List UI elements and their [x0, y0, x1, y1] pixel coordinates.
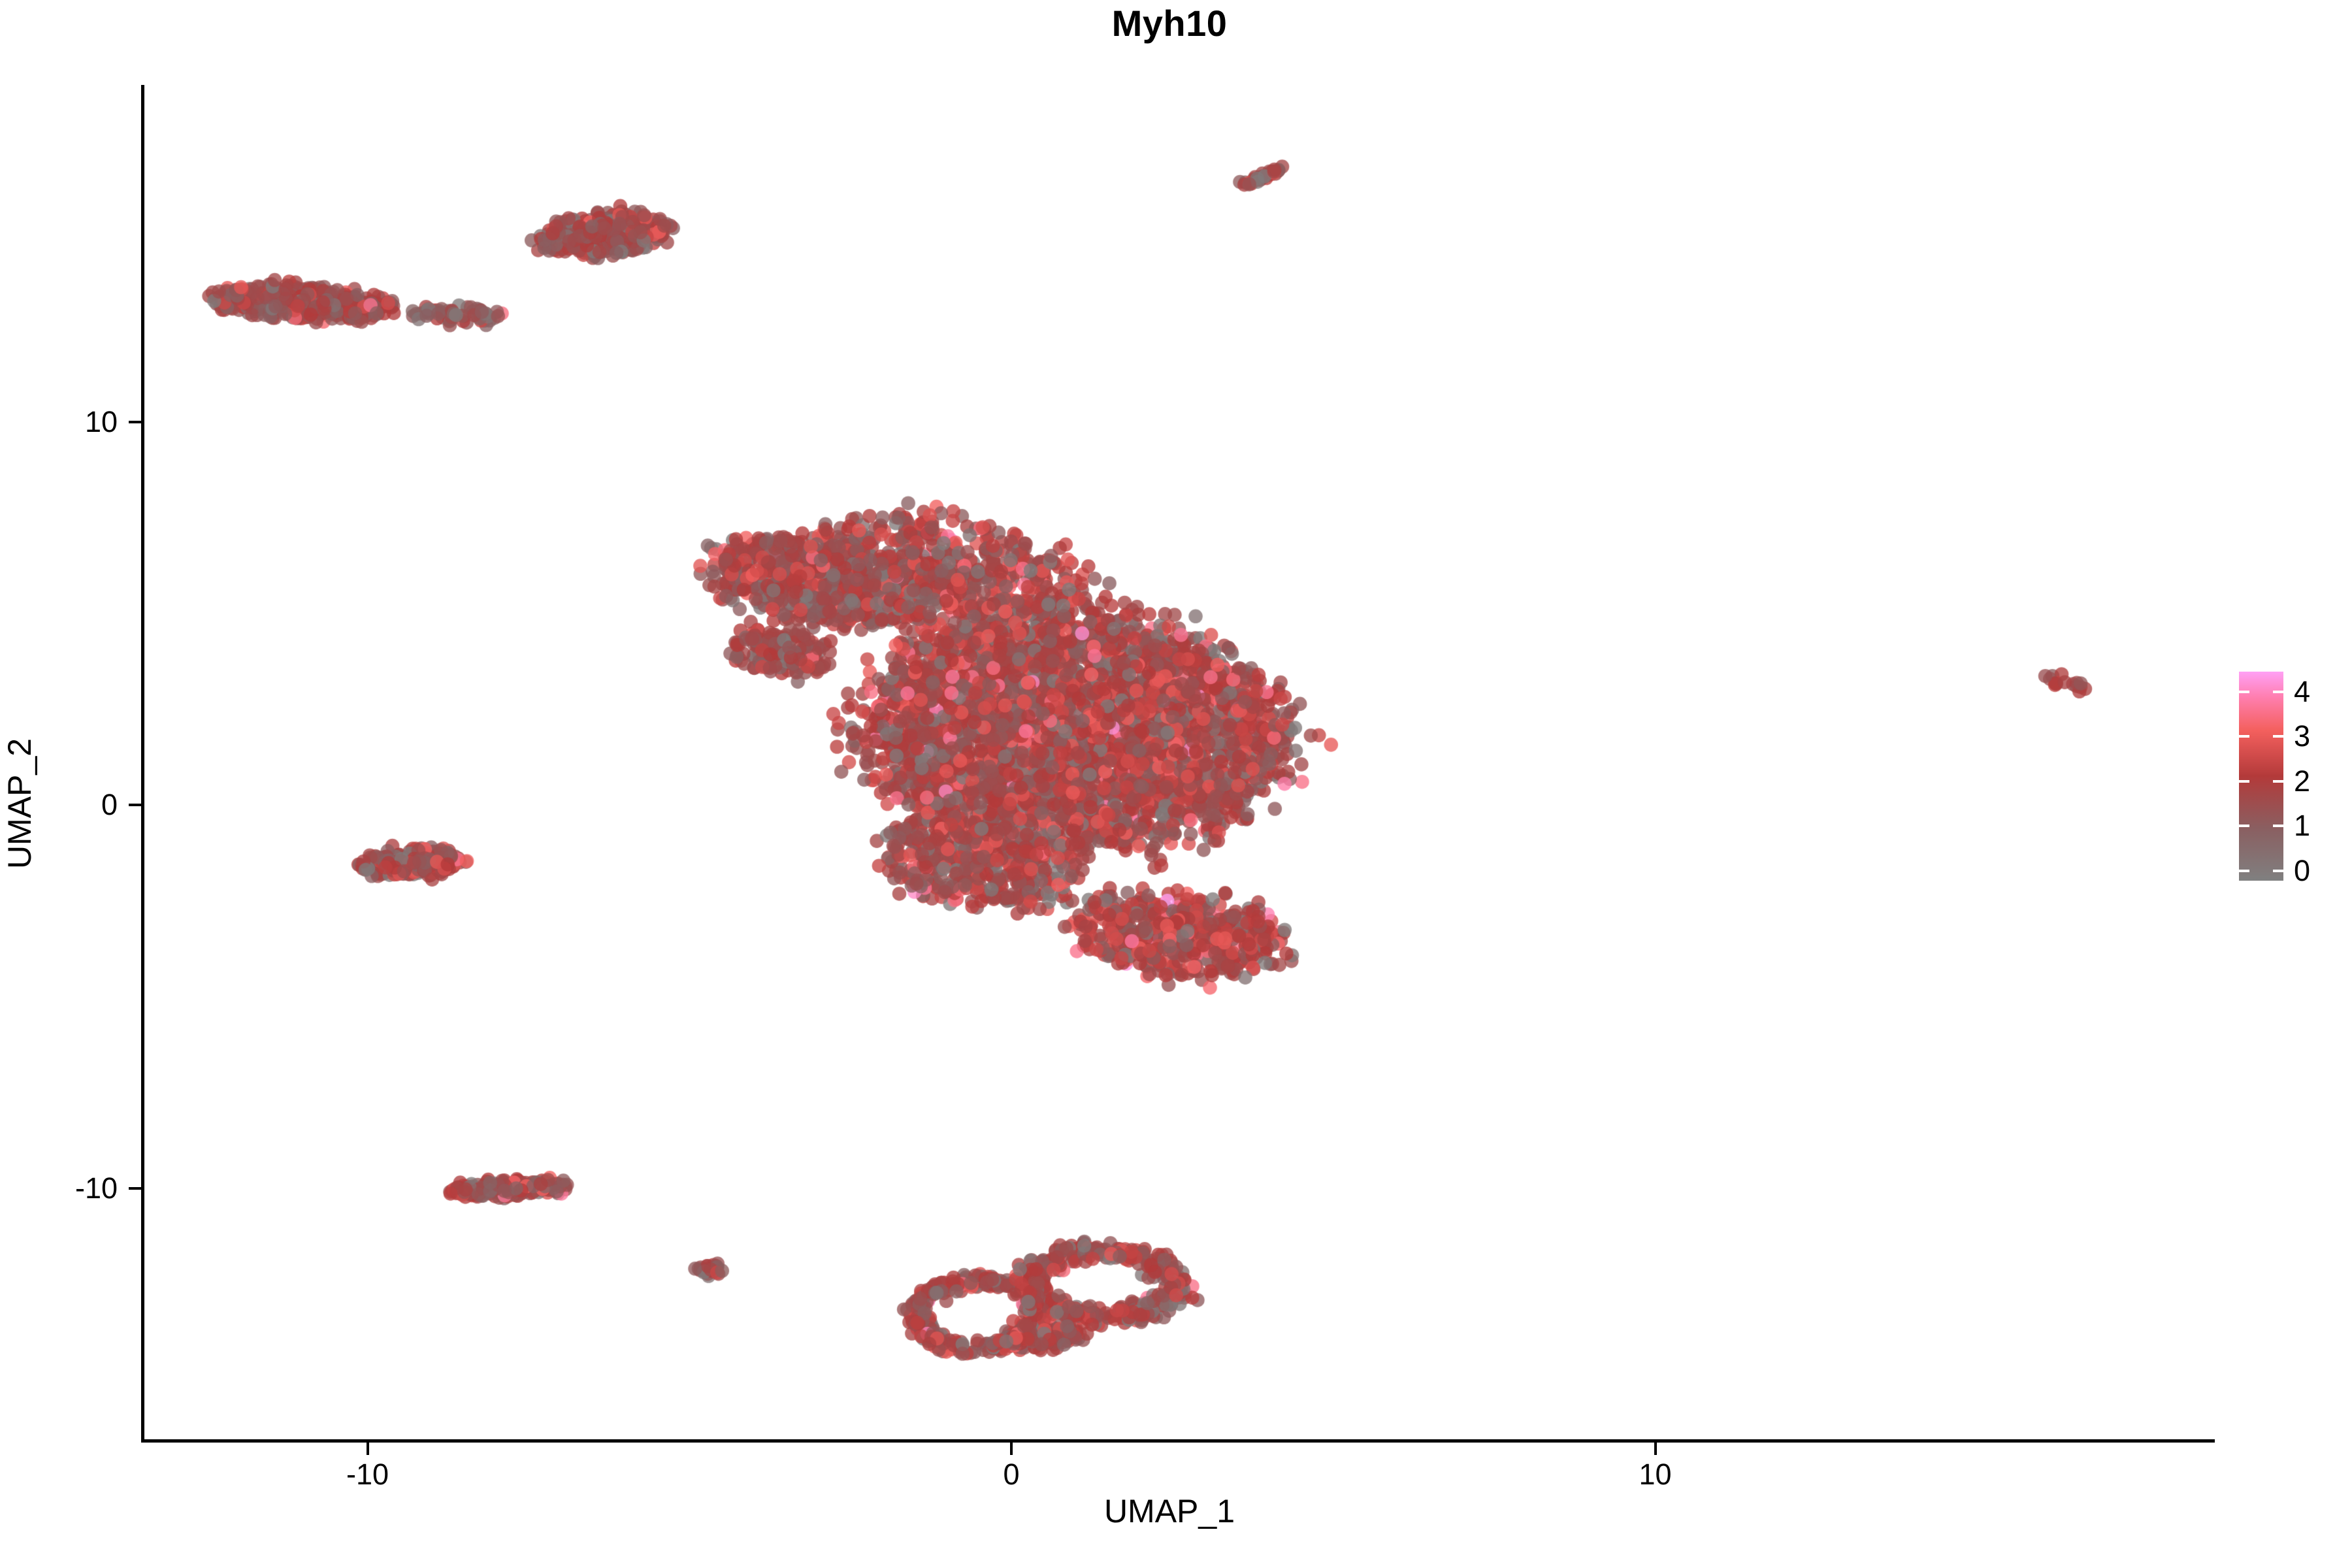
plot-panel [142, 85, 2215, 1441]
x-tick-mark [367, 1443, 369, 1455]
x-axis-line [142, 1439, 2215, 1443]
scatter-points-layer [142, 85, 2215, 1441]
legend-tick-label: 0 [2294, 856, 2310, 885]
legend-colorbar [2239, 672, 2283, 881]
x-tick-label: -10 [302, 1460, 433, 1489]
y-axis-title: UMAP_2 [3, 706, 36, 902]
legend-tick-mark [2273, 780, 2283, 783]
color-legend: 01234 [2239, 672, 2352, 887]
x-tick-mark [1654, 1443, 1657, 1455]
page-title: Myh10 [0, 5, 2345, 42]
legend-tick-label: 4 [2294, 677, 2310, 706]
legend-tick-label: 2 [2294, 766, 2310, 796]
legend-tick-label: 3 [2294, 721, 2310, 751]
y-tick-mark [129, 804, 141, 806]
umap-feature-plot: Myh10 -10010 -10010 UMAP_1 UMAP_2 01234 [0, 0, 2352, 1568]
y-tick-mark [129, 421, 141, 423]
legend-tick-mark [2273, 825, 2283, 827]
y-axis-line [141, 85, 144, 1443]
x-tick-mark [1010, 1443, 1013, 1455]
x-tick-label: 10 [1590, 1460, 1721, 1489]
legend-tick-mark [2239, 780, 2249, 783]
legend-tick-mark [2273, 870, 2283, 872]
x-axis-title: UMAP_1 [0, 1495, 2345, 1527]
legend-tick-mark [2239, 735, 2249, 738]
legend-tick-label: 1 [2294, 811, 2310, 840]
y-tick-label: -10 [0, 1173, 118, 1203]
y-tick-label: 10 [0, 407, 118, 436]
legend-tick-mark [2239, 870, 2249, 872]
y-tick-mark [129, 1187, 141, 1190]
legend-tick-mark [2239, 691, 2249, 693]
x-tick-label: 0 [946, 1460, 1077, 1489]
legend-tick-mark [2273, 691, 2283, 693]
legend-tick-mark [2239, 825, 2249, 827]
legend-tick-mark [2273, 735, 2283, 738]
